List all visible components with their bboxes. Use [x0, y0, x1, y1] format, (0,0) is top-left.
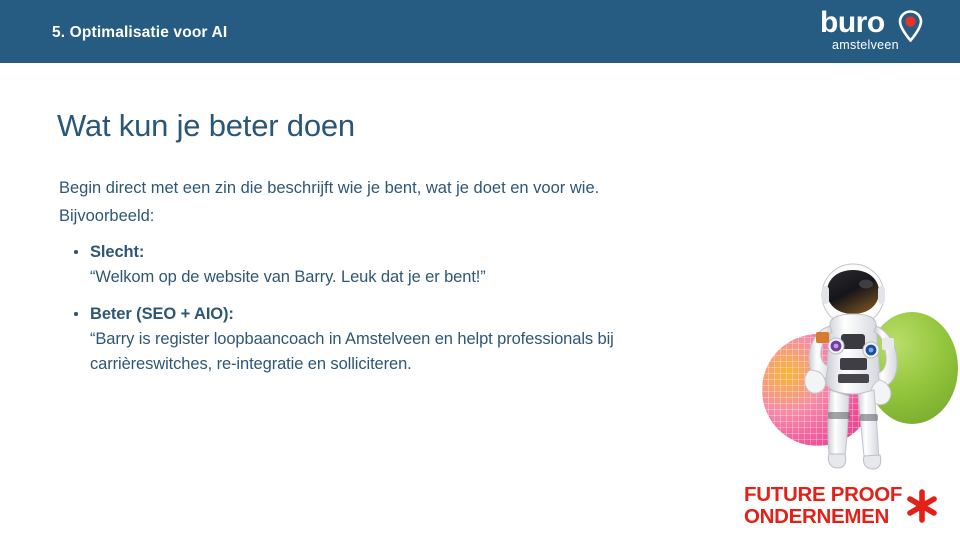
buro-amstelveen-logo: buro amstelveen	[812, 8, 938, 56]
slide-canvas: 5. Optimalisatie voor AI buro amstelveen…	[0, 0, 960, 540]
bullet-dot-icon	[74, 250, 78, 254]
list-item: Beter (SEO + AIO): “Barry is register lo…	[59, 302, 799, 377]
header-bar: 5. Optimalisatie voor AI buro amstelveen	[0, 0, 960, 63]
fpo-line-1: FUTURE PROOF	[744, 484, 902, 506]
bullet-dot-icon	[74, 312, 78, 316]
lead-paragraph-line-1: Begin direct met een zin die beschrijft …	[59, 176, 799, 201]
example-bullet-list: Slecht: “Welkom op de website van Barry.…	[59, 240, 799, 377]
bullet-quote-line-1: “Barry is register loopbaancoach in Amst…	[90, 327, 799, 352]
map-pin-icon	[898, 10, 923, 42]
future-proof-ondernemen-logo: FUTURE PROOF ONDERNEMEN	[744, 484, 944, 532]
bullet-quote-line-1: “Welkom op de website van Barry. Leuk da…	[90, 265, 799, 290]
buro-wordmark: buro	[820, 8, 885, 38]
lead-paragraph-line-2: Bijvoorbeeld:	[59, 204, 799, 229]
asterisk-star-icon	[902, 486, 942, 526]
section-label: 5. Optimalisatie voor AI	[52, 24, 227, 42]
list-item: Slecht: “Welkom op de website van Barry.…	[59, 240, 799, 290]
fpo-wordmark: FUTURE PROOF ONDERNEMEN	[744, 484, 902, 527]
bullet-label: Beter (SEO + AIO):	[90, 302, 799, 327]
bullet-label: Slecht:	[90, 240, 799, 265]
buro-subtitle: amstelveen	[832, 38, 899, 52]
astronaut-graphic	[748, 262, 960, 492]
astronaut-illustration	[794, 262, 912, 470]
bullet-quote-line-2: carrièreswitches, re-integratie en solli…	[90, 352, 799, 377]
fpo-line-2: ONDERNEMEN	[744, 506, 902, 528]
page-title: Wat kun je beter doen	[57, 108, 355, 144]
body-content: Begin direct met een zin die beschrijft …	[59, 176, 799, 389]
